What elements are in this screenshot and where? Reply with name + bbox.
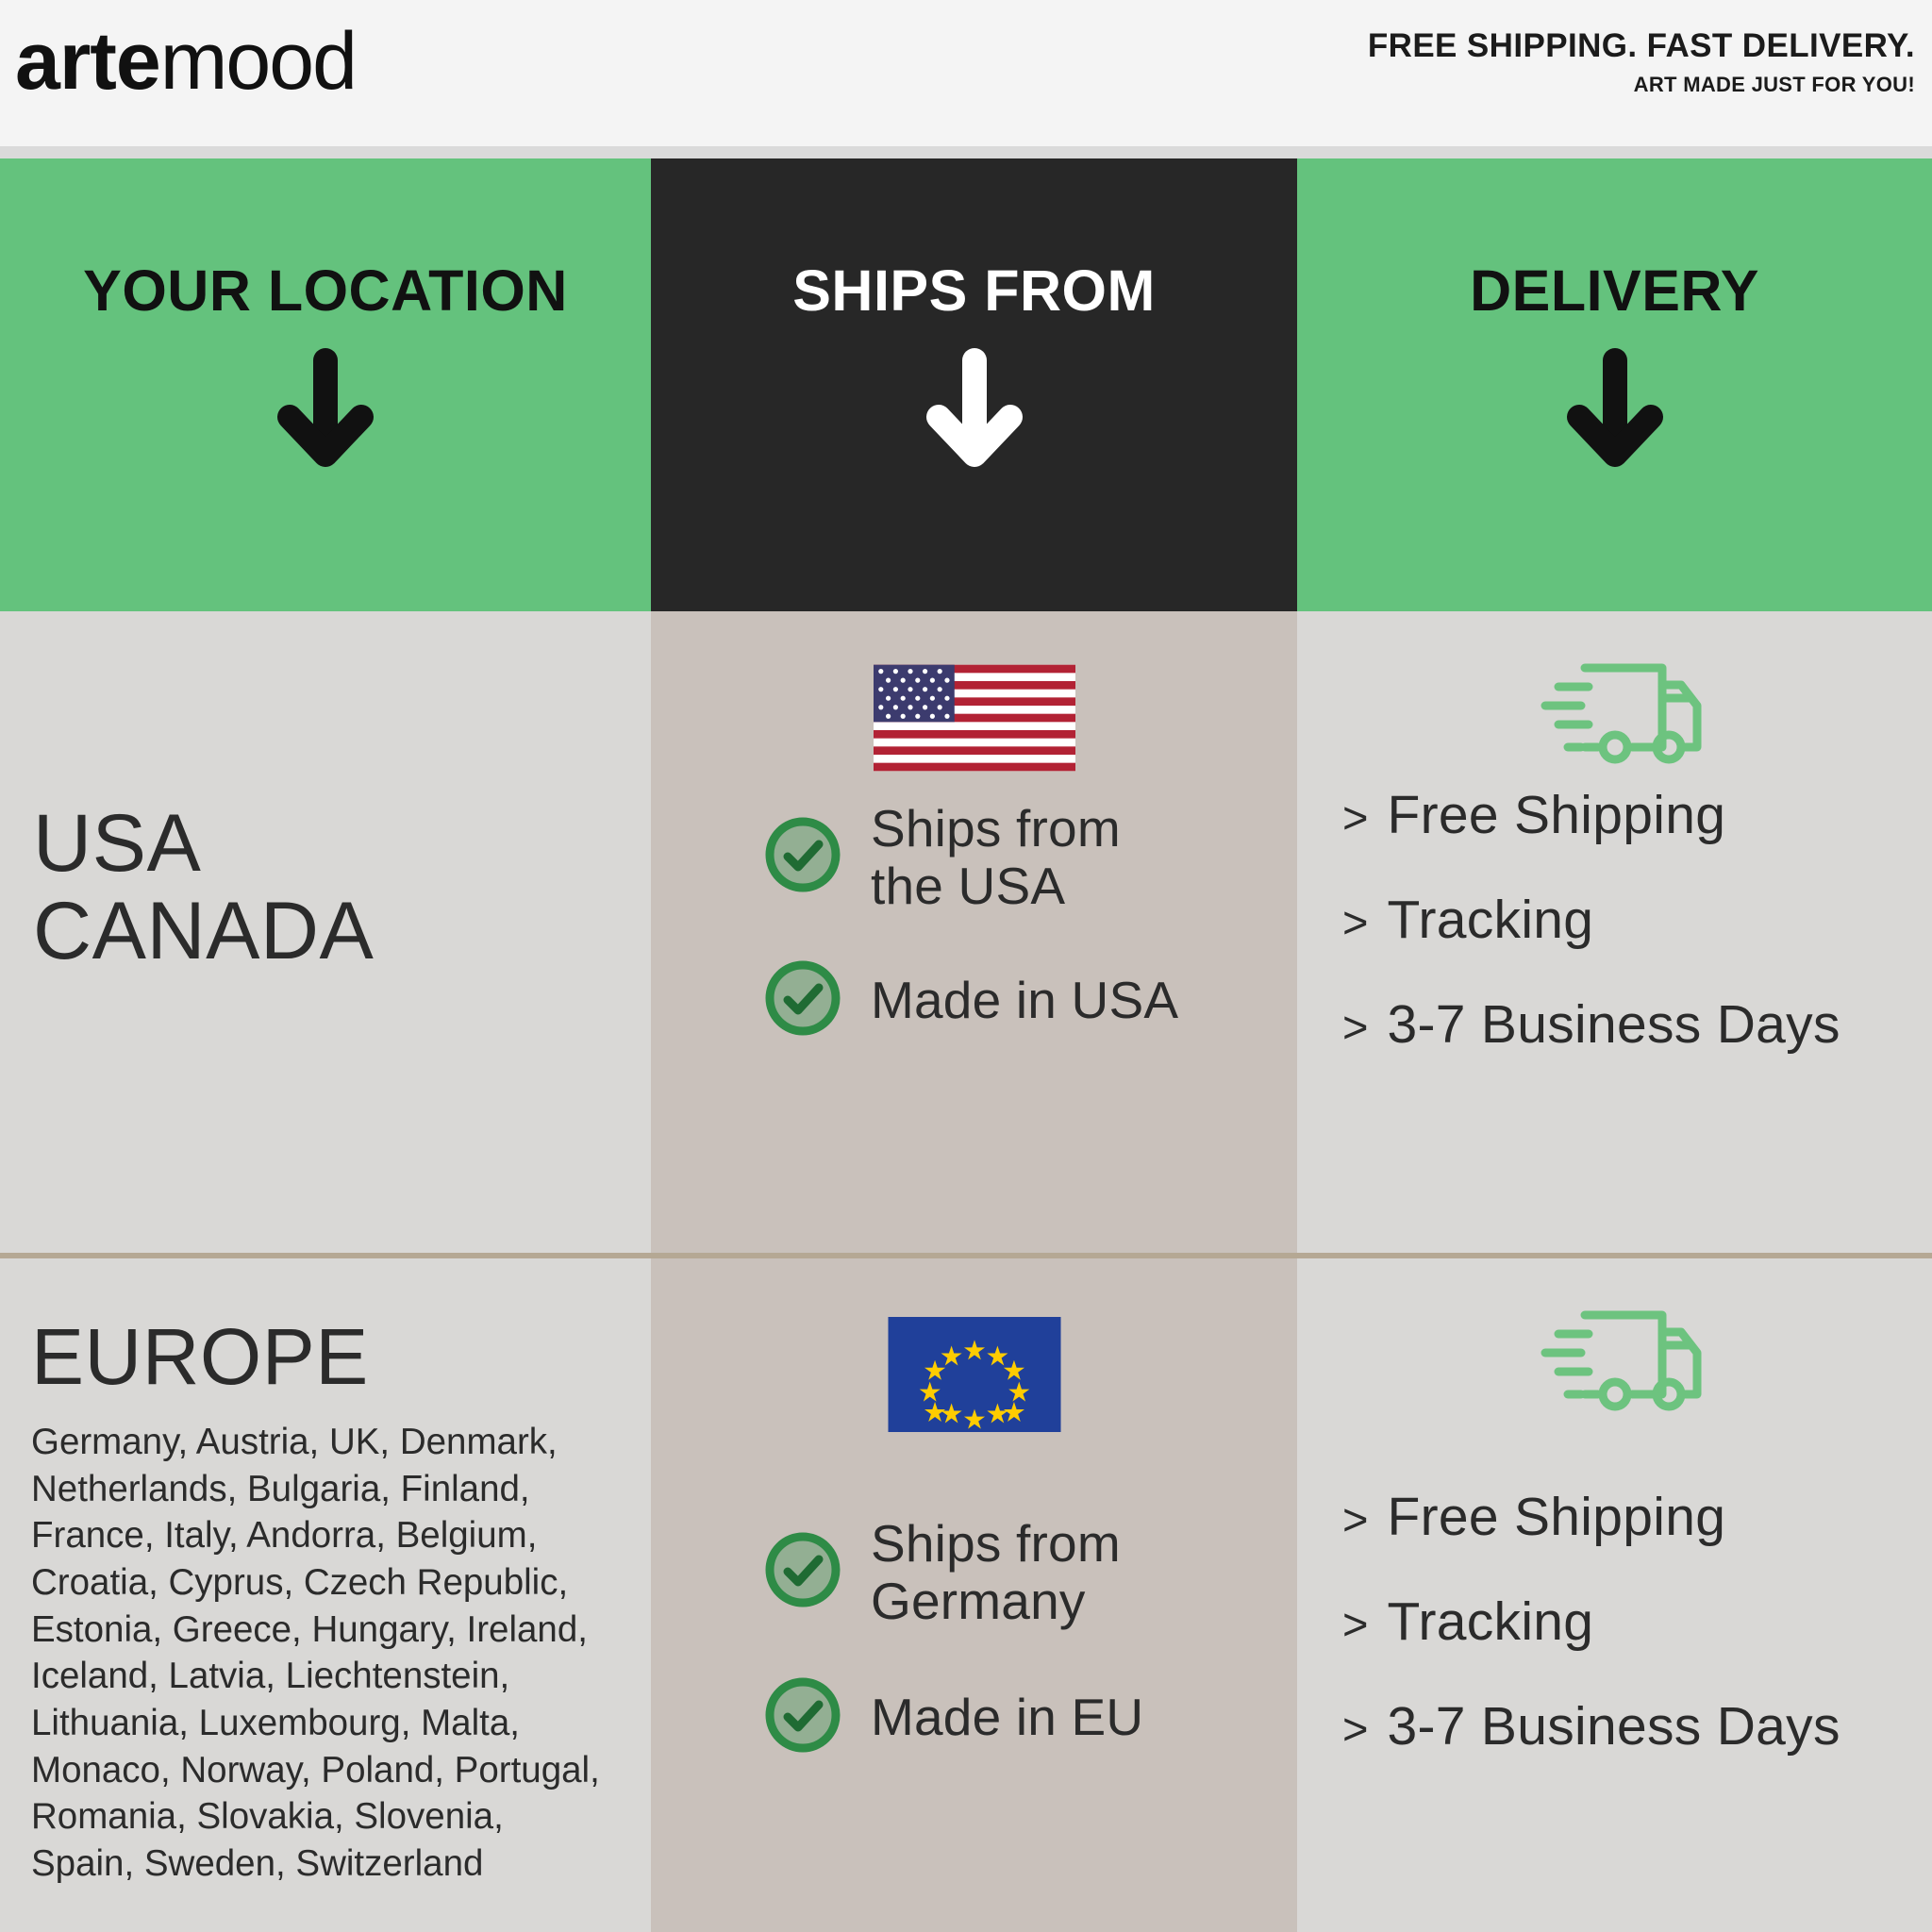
arrow-down-icon [924, 347, 1025, 475]
europe-country-list: Germany, Austria, UK, Denmark, Netherlan… [31, 1419, 616, 1888]
header-title-delivery: DELIVERY [1297, 262, 1932, 320]
eu-flag-icon [874, 1317, 1075, 1432]
comparison-grid: YOUR LOCATION USA CANADA EUR [0, 158, 1932, 1932]
delivery-list-europe: > Free Shipping > Tracking > 3-7 Busines… [1297, 1491, 1932, 1805]
logo-light-part: mood [160, 16, 356, 107]
artemood-logo: artemood [15, 21, 356, 102]
check-circle-icon [761, 1528, 844, 1616]
header-cell-ships-from: SHIPS FROM [651, 158, 1297, 611]
delivery-item-label: Free Shipping [1387, 789, 1725, 842]
cell-delivery-usa: > Free Shipping > Tracking > 3-7 Busines… [1297, 611, 1932, 1253]
row-divider [0, 1253, 1932, 1258]
delivery-list-item: > Tracking [1297, 1595, 1932, 1649]
delivery-item-label: 3-7 Business Days [1387, 1700, 1840, 1754]
check-label: Ships from Germany [871, 1515, 1121, 1629]
delivery-list-usa: > Free Shipping > Tracking > 3-7 Busines… [1297, 789, 1932, 1103]
check-label: Made in EU [871, 1689, 1143, 1746]
chevron-right-icon: > [1342, 1707, 1368, 1751]
delivery-list-item: > 3-7 Business Days [1297, 998, 1932, 1052]
location-label-usa: USA CANADA [33, 800, 374, 975]
check-label: Ships from the USA [871, 800, 1121, 914]
chevron-right-icon: > [1342, 795, 1368, 840]
arrow-down-icon [1564, 347, 1666, 475]
delivery-list-item: > 3-7 Business Days [1297, 1700, 1932, 1754]
check-circle-icon [761, 1674, 844, 1761]
brand-header: artemood FREE SHIPPING. FAST DELIVERY. A… [0, 0, 1932, 146]
cell-delivery-europe: > Free Shipping > Tracking > 3-7 Busines… [1297, 1258, 1932, 1932]
header-title-ships-from: SHIPS FROM [651, 262, 1297, 320]
chevron-right-icon: > [1342, 1602, 1368, 1646]
shipping-info-infographic: artemood FREE SHIPPING. FAST DELIVERY. A… [0, 0, 1932, 1932]
us-flag-icon [874, 660, 1075, 775]
cell-location-usa: USA CANADA [0, 611, 651, 1253]
arrow-down-icon [275, 347, 376, 475]
tagline-sub: ART MADE JUST FOR YOU! [1368, 73, 1915, 97]
column-your-location: YOUR LOCATION USA CANADA EUR [0, 158, 651, 1932]
chevron-right-icon: > [1342, 900, 1368, 944]
delivery-item-label: Tracking [1387, 1595, 1593, 1649]
cell-ships-from-europe: Ships from Germany Made in EU [651, 1258, 1297, 1932]
check-label: Made in USA [871, 972, 1178, 1029]
column-delivery: DELIVERY [1297, 158, 1932, 1932]
delivery-truck-icon [1523, 1304, 1707, 1420]
ships-from-check-item: Ships from Germany [761, 1515, 1121, 1629]
delivery-list-item: > Free Shipping [1297, 789, 1932, 842]
chevron-right-icon: > [1342, 1005, 1368, 1049]
delivery-item-label: 3-7 Business Days [1387, 998, 1840, 1052]
check-circle-icon [761, 813, 844, 901]
header-cell-delivery: DELIVERY [1297, 158, 1932, 611]
header-cell-your-location: YOUR LOCATION [0, 158, 651, 611]
location-line-1: USA [33, 800, 374, 888]
column-ships-from: SHIPS FROM [651, 158, 1297, 1932]
delivery-item-label: Tracking [1387, 893, 1593, 947]
delivery-list-item: > Tracking [1297, 893, 1932, 947]
cell-location-europe: EUROPE Germany, Austria, UK, Denmark, Ne… [0, 1258, 651, 1932]
header-title-your-location: YOUR LOCATION [0, 262, 651, 320]
location-label-europe: EUROPE [31, 1317, 369, 1396]
ships-from-check-item: Ships from the USA [761, 800, 1121, 914]
ships-from-check-item: Made in USA [761, 957, 1178, 1044]
location-line-2: CANADA [33, 888, 374, 975]
delivery-list-item: > Free Shipping [1297, 1491, 1932, 1544]
delivery-item-label: Free Shipping [1387, 1491, 1725, 1544]
ships-from-check-item: Made in EU [761, 1674, 1143, 1761]
check-circle-icon [761, 957, 844, 1044]
chevron-right-icon: > [1342, 1497, 1368, 1541]
tagline-block: FREE SHIPPING. FAST DELIVERY. ART MADE J… [1368, 28, 1915, 97]
cell-ships-from-usa: Ships from the USA Made in USA [651, 611, 1297, 1253]
tagline-main: FREE SHIPPING. FAST DELIVERY. [1368, 28, 1915, 65]
delivery-truck-icon [1523, 657, 1707, 773]
header-divider [0, 146, 1932, 158]
logo-bold-part: arte [15, 16, 160, 107]
